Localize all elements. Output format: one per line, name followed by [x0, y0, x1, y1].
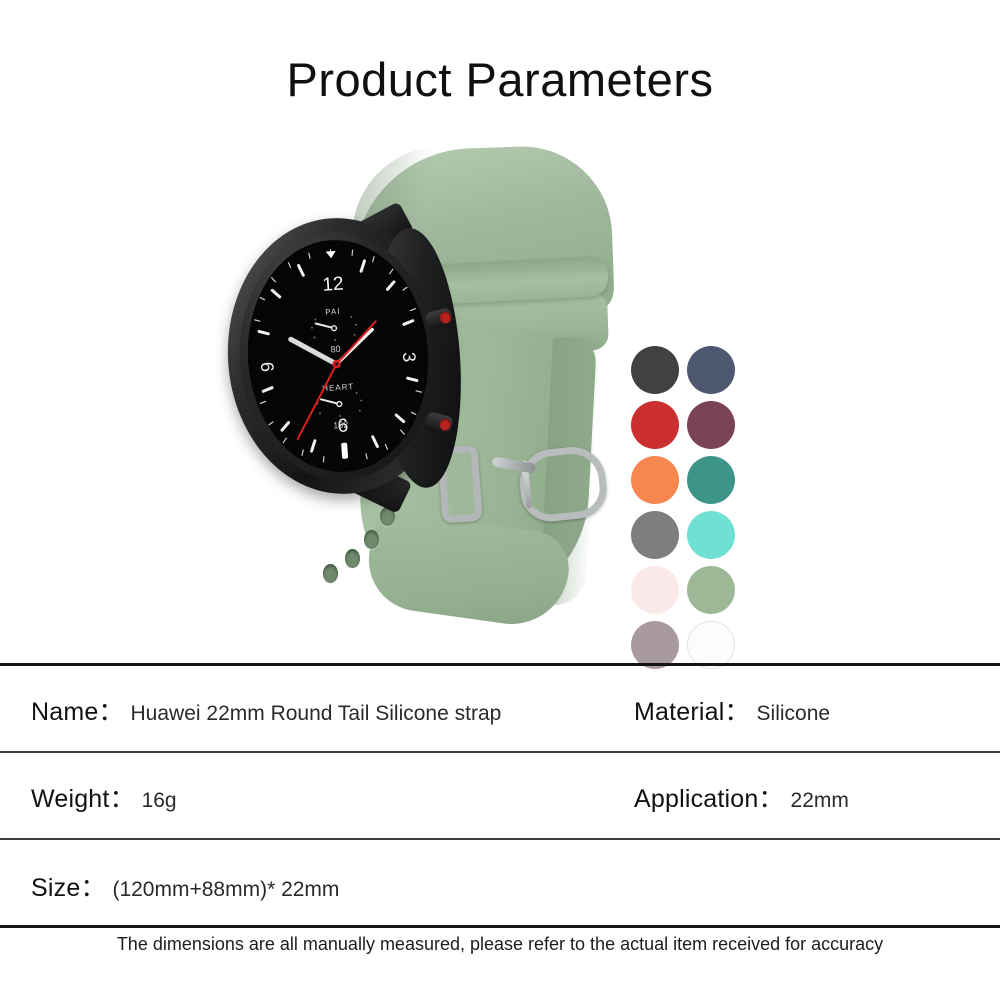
- spec-colon: ：: [80, 868, 105, 904]
- table-row: Weight ： 16g Application ： 22mm: [0, 753, 1000, 838]
- spec-colon: ：: [725, 692, 750, 728]
- color-swatch-pale-pink[interactable]: [631, 566, 679, 614]
- color-swatch-orange[interactable]: [631, 456, 679, 504]
- spec-value: (120mm+88mm)* 22mm: [112, 878, 339, 902]
- color-swatch-grid: [631, 346, 735, 669]
- svg-text:PAI: PAI: [325, 307, 341, 317]
- page-title: Product Parameters: [0, 52, 1000, 107]
- color-swatch-sage-green[interactable]: [687, 566, 735, 614]
- spec-value: 16g: [142, 789, 177, 813]
- svg-text:9: 9: [257, 361, 278, 372]
- color-swatch-gray[interactable]: [631, 511, 679, 559]
- smartwatch: 12 3 6 9 PAI 80 HEAR: [228, 218, 460, 500]
- strap-hole: [345, 549, 360, 568]
- spec-label: Size: [31, 874, 80, 903]
- watch-dial: 12 3 6 9 PAI 80 HEAR: [240, 234, 436, 478]
- svg-text:80: 80: [330, 344, 341, 355]
- spec-label: Application: [634, 785, 759, 814]
- spec-label: Weight: [31, 785, 110, 814]
- product-hero-image: 12 3 6 9 PAI 80 HEAR: [0, 130, 1000, 650]
- spec-value: 22mm: [791, 789, 849, 813]
- color-swatch-slate-blue[interactable]: [687, 346, 735, 394]
- color-swatch-red[interactable]: [631, 401, 679, 449]
- spec-size: Size ： (120mm+88mm)* 22mm: [31, 868, 339, 904]
- strap-hole: [364, 530, 379, 549]
- spec-value: Silicone: [757, 702, 831, 726]
- spec-label: Name: [31, 698, 99, 727]
- spec-name: Name ： Huawei 22mm Round Tail Silicone s…: [31, 692, 501, 728]
- table-row: Name ： Huawei 22mm Round Tail Silicone s…: [0, 666, 1000, 751]
- table-row: Size ： (120mm+88mm)* 22mm: [0, 840, 1000, 925]
- color-swatch-turquoise[interactable]: [687, 511, 735, 559]
- strap-hole: [323, 564, 338, 583]
- svg-text:152: 152: [333, 419, 349, 430]
- spec-colon: ：: [110, 779, 135, 815]
- table-divider-bottom: [0, 925, 1000, 928]
- spec-material: Material ： Silicone: [634, 692, 830, 728]
- spec-label: Material: [634, 698, 725, 727]
- spec-colon: ：: [759, 779, 784, 815]
- svg-text:12: 12: [322, 273, 345, 295]
- measurement-disclaimer: The dimensions are all manually measured…: [0, 934, 1000, 955]
- color-swatch-teal[interactable]: [687, 456, 735, 504]
- svg-text:3: 3: [399, 351, 420, 362]
- color-swatch-charcoal[interactable]: [631, 346, 679, 394]
- specifications-table: Name ： Huawei 22mm Round Tail Silicone s…: [0, 663, 1000, 928]
- color-swatch-plum[interactable]: [687, 401, 735, 449]
- spec-application: Application ： 22mm: [634, 779, 849, 815]
- color-swatch-white[interactable]: [687, 621, 735, 669]
- crown-accent-dot: [439, 310, 453, 324]
- color-swatch-mauve[interactable]: [631, 621, 679, 669]
- spec-colon: ：: [99, 692, 124, 728]
- spec-weight: Weight ： 16g: [31, 779, 177, 815]
- spec-value: Huawei 22mm Round Tail Silicone strap: [131, 702, 502, 726]
- crown-accent-dot: [439, 417, 453, 431]
